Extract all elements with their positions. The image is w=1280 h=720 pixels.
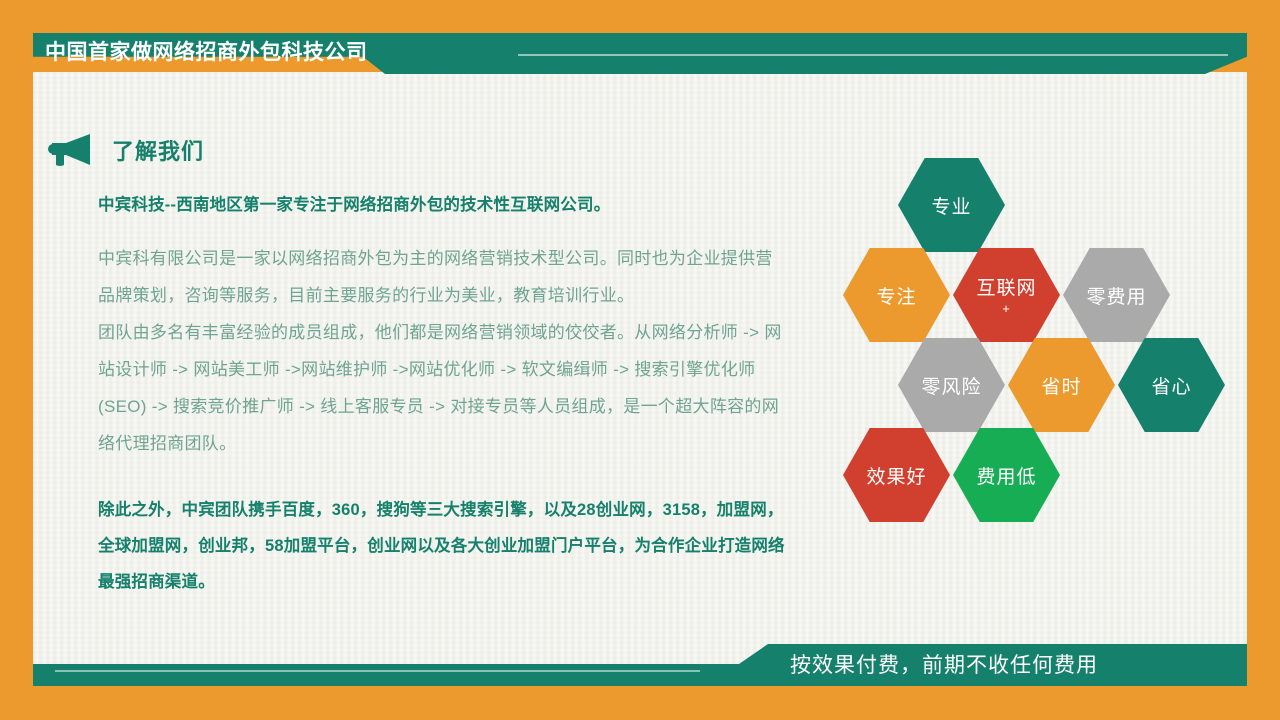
hexagon-tile: 专注 (843, 248, 950, 342)
section-heading: 了解我们 (48, 132, 204, 168)
hexagon-label: 省时 (1041, 372, 1081, 399)
hexagon-tile: 专业 (898, 158, 1005, 252)
hexagon-label: 专注 (876, 282, 916, 309)
hexagon-tile: 零风险 (898, 338, 1005, 432)
hexagon-label: 省心 (1151, 372, 1191, 399)
hexagon-label: 零费用 (1086, 282, 1146, 309)
hexagon-tile: 费用低 (953, 428, 1060, 522)
body-paragraph: 团队由多名有丰富经验的成员组成，他们都是网络营销领域的佼佼者。从网络分析师 ->… (98, 314, 788, 462)
hexagon-label: 费用低 (976, 462, 1036, 489)
closing-paragraph: 除此之外，中宾团队携手百度，360，搜狗等三大搜索引擎，以及28创业网，3158… (98, 492, 788, 600)
page-title: 中国首家做网络招商外包科技公司 (45, 34, 368, 72)
hexagon-tile: 零费用 (1063, 248, 1170, 342)
hexagon-label: 零风险 (921, 372, 981, 399)
hexagon-sublabel: + (1002, 301, 1011, 317)
hexagon-label: 互联网 (976, 273, 1036, 300)
hexagon-tile: 互联网+ (953, 248, 1060, 342)
footer-divider-line (55, 670, 700, 672)
hexagon-tile: 效果好 (843, 428, 950, 522)
hexagon-tile: 省心 (1118, 338, 1225, 432)
hexagon-label: 专业 (931, 192, 971, 219)
body-paragraph: 中宾科有限公司是一家以网络招商外包为主的网络营销技术型公司。同时也为企业提供营品… (98, 240, 788, 314)
body-paragraphs: 中宾科有限公司是一家以网络招商外包为主的网络营销技术型公司。同时也为企业提供营品… (98, 240, 788, 462)
hexagon-tile: 省时 (1008, 338, 1115, 432)
header-divider-line (518, 54, 1228, 56)
footer-tagline: 按效果付费，前期不收任何费用 (790, 644, 1098, 686)
about-text-block: 中宾科技--西南地区第一家专注于网络招商外包的技术性互联网公司。 中宾科有限公司… (98, 192, 788, 600)
section-title: 了解我们 (112, 134, 204, 166)
megaphone-icon (48, 132, 94, 168)
hexagon-label: 效果好 (866, 462, 926, 489)
hexagon-cluster: 专业专注互联网+零费用零风险省时省心效果好费用低 (835, 158, 1235, 538)
lead-paragraph: 中宾科技--西南地区第一家专注于网络招商外包的技术性互联网公司。 (98, 192, 788, 218)
